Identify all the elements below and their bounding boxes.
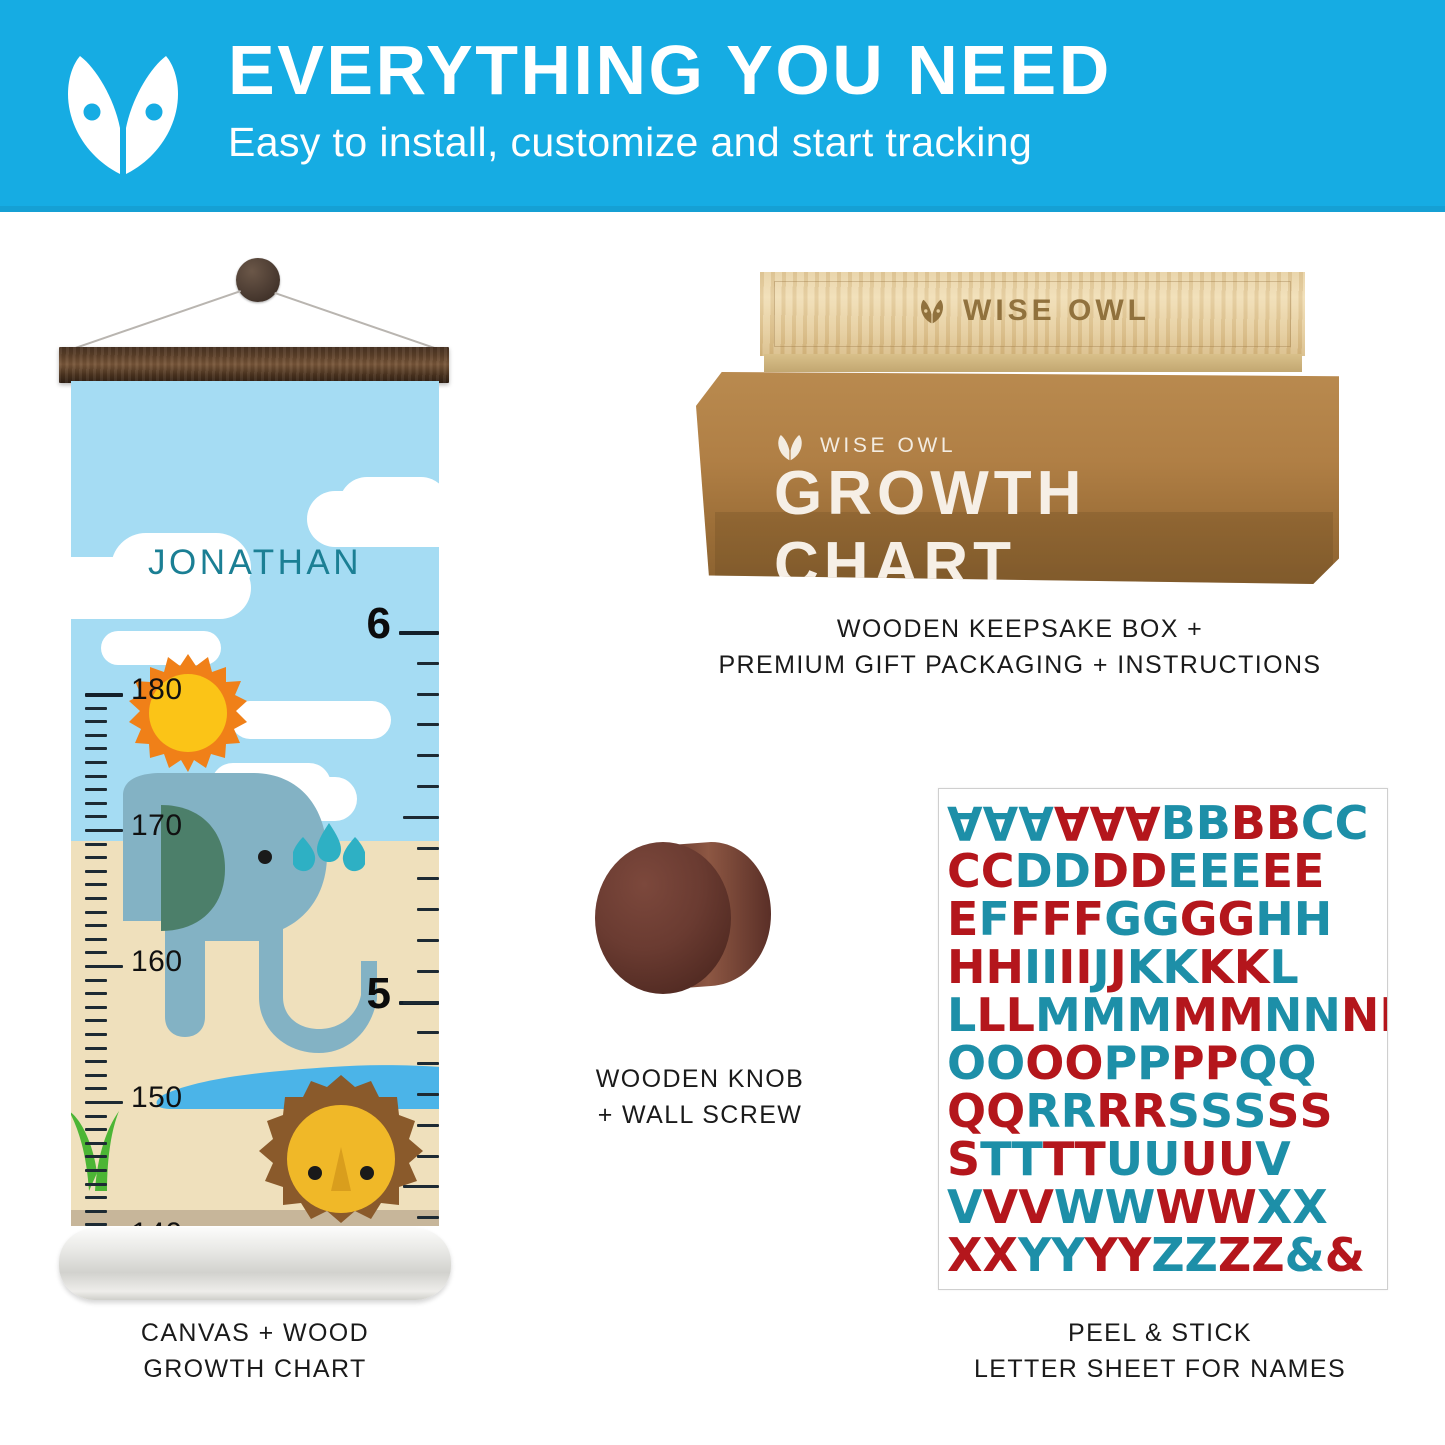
cm-minor-tick [85, 1223, 107, 1226]
letter-sticker[interactable]: S [947, 1136, 980, 1182]
letter-sticker[interactable]: V [1018, 1184, 1054, 1230]
letter-sticker[interactable]: F [1010, 896, 1041, 942]
letter-row: HHIIIIJJKKKKL [947, 943, 1379, 991]
letter-row: AAAAAABBBBCC [947, 799, 1379, 847]
letter-sticker[interactable]: I [1058, 944, 1075, 990]
letter-sticker[interactable]: U [1180, 1136, 1217, 1182]
letter-sticker[interactable]: M [1035, 992, 1081, 1038]
inch-minor-tick [417, 847, 439, 850]
letter-row: STTTTUUUUV [947, 1135, 1379, 1183]
letter-sticker[interactable]: K [1127, 944, 1163, 990]
letter-sticker[interactable]: J [1110, 944, 1127, 990]
letter-sticker[interactable]: U [1218, 1136, 1255, 1182]
cm-minor-tick [85, 1087, 107, 1090]
cm-minor-tick [85, 1169, 107, 1172]
hanging-knob-icon [236, 258, 280, 302]
inch-minor-tick [403, 1001, 439, 1004]
letter-sticker[interactable]: A [1125, 800, 1161, 846]
letter-sticker[interactable]: E [1167, 848, 1198, 894]
cm-label: 180 [131, 673, 183, 707]
chart-canvas: JONATHAN 180 170 160 150 140 130 6 5 [71, 381, 439, 1226]
canvas-roll-bottom [59, 1228, 451, 1300]
letter-row: LLLMMMMMNNNN [947, 991, 1379, 1039]
letter-sticker[interactable]: W [1054, 1184, 1105, 1230]
letter-sticker[interactable]: G [1217, 896, 1255, 942]
cm-minor-tick [85, 747, 107, 750]
caption-line: PEEL & STICK [930, 1316, 1390, 1352]
caption-line: GROWTH CHART [45, 1352, 465, 1388]
letter-sticker[interactable]: Z [1185, 1232, 1218, 1278]
cm-label: 150 [131, 1081, 183, 1115]
letter-sticker[interactable]: S [1200, 1088, 1233, 1134]
letter-sticker[interactable]: A [1089, 800, 1125, 846]
letter-sticker[interactable]: G [1104, 896, 1142, 942]
cm-minor-tick [85, 1210, 107, 1213]
inch-minor-tick [417, 1155, 439, 1158]
inch-minor-tick [417, 970, 439, 973]
growth-chart-caption: CANVAS + WOOD GROWTH CHART [45, 1316, 465, 1387]
letter-row: CCDDDDEEEEE [947, 847, 1379, 895]
cm-minor-tick [85, 720, 107, 723]
letter-sticker[interactable]: T [1074, 1136, 1105, 1182]
letter-sticker[interactable]: Z [1251, 1232, 1284, 1278]
letter-sticker[interactable]: Y [1118, 1232, 1151, 1278]
letter-sticker[interactable]: W [1155, 1184, 1206, 1230]
letter-sticker[interactable]: R [1025, 1088, 1060, 1134]
cloud [231, 701, 391, 739]
letter-sticker[interactable]: V [983, 1184, 1019, 1230]
inch-minor-tick [417, 1093, 439, 1096]
letter-sticker[interactable]: H [1255, 896, 1294, 942]
letter-sticker[interactable]: & [1325, 1232, 1365, 1278]
letter-sticker[interactable]: X [982, 1232, 1017, 1278]
letter-sticker[interactable]: A [947, 800, 983, 846]
cm-minor-tick [85, 938, 107, 941]
cm-minor-tick [85, 1060, 107, 1063]
caption-line: + WALL SCREW [560, 1098, 840, 1134]
letter-sticker[interactable]: U [1143, 1136, 1180, 1182]
letter-sticker[interactable]: L [1269, 944, 1298, 990]
letter-sticker[interactable]: Y [1018, 1232, 1051, 1278]
letter-sticker[interactable]: B [1266, 800, 1301, 846]
letter-sticker[interactable]: S [1233, 1088, 1266, 1134]
inch-minor-tick [417, 1031, 439, 1034]
hanging-string-left [68, 290, 241, 351]
inch-minor-tick [417, 1062, 439, 1065]
letter-sticker[interactable]: C [981, 848, 1015, 894]
inch-minor-tick [417, 1124, 439, 1127]
cm-minor-tick [85, 761, 107, 764]
inch-minor-tick [417, 939, 439, 942]
caption-line: PREMIUM GIFT PACKAGING + INSTRUCTIONS [690, 648, 1350, 684]
inch-minor-tick [417, 723, 439, 726]
banner-title: EVERYTHING YOU NEED [228, 34, 1348, 108]
inch-minor-tick [403, 816, 439, 819]
letter-sticker[interactable]: P [1171, 1040, 1205, 1086]
cm-minor-tick [85, 1047, 107, 1050]
cm-minor-tick [85, 924, 107, 927]
cm-minor-tick [85, 802, 107, 805]
letter-sticker[interactable]: K [1162, 944, 1198, 990]
header-banner: EVERYTHING YOU NEED Easy to install, cus… [0, 0, 1445, 212]
cm-minor-tick [85, 815, 107, 818]
letter-sticker[interactable]: E [947, 896, 978, 942]
letter-sticker[interactable]: L [947, 992, 976, 1038]
wooden-knob-icon [585, 830, 805, 1030]
feet-ruler: 6 5 [371, 381, 439, 1226]
letter-sticker[interactable]: T [1012, 1136, 1043, 1182]
cm-minor-tick [85, 979, 107, 982]
cm-minor-tick [85, 1115, 107, 1118]
carton-brand-text: WISE OWL [820, 434, 956, 458]
wooden-knob-product [585, 830, 805, 1030]
letter-row: OOOOPPPPQQ [947, 1039, 1379, 1087]
inch-minor-tick [417, 662, 439, 665]
letter-sticker[interactable]: O [947, 1040, 986, 1086]
wooden-keepsake-box: WISE OWL [760, 272, 1305, 356]
letter-sticker[interactable]: S [1167, 1088, 1200, 1134]
letter-sticker[interactable]: T [1043, 1136, 1074, 1182]
cm-minor-tick [85, 897, 107, 900]
letter-row: VVVWWWWXX [947, 1183, 1379, 1231]
cardboard-gift-box: WISE OWL GROWTH CHART [696, 372, 1339, 584]
cm-minor-tick [85, 843, 107, 846]
letter-sticker[interactable]: Y [1085, 1232, 1118, 1278]
cm-minor-tick [85, 1033, 107, 1036]
cm-minor-tick [85, 775, 107, 778]
caption-line: CANVAS + WOOD [45, 1316, 465, 1352]
letter-sticker[interactable]: X [1292, 1184, 1327, 1230]
letter-sticker[interactable]: K [1198, 944, 1234, 990]
hanging-string-right [274, 292, 447, 353]
banner-subtitle: Easy to install, customize and start tra… [228, 120, 1348, 165]
cm-minor-tick [85, 1019, 107, 1022]
letter-sticker[interactable]: R [1061, 1088, 1096, 1134]
cm-minor-tick [85, 788, 107, 791]
letter-sticker[interactable]: Z [1218, 1232, 1251, 1278]
letter-sticker-sheet: AAAAAABBBBCCCCDDDDEEEEEEFFFFGGGGHHHHIIII… [938, 788, 1388, 1290]
letter-sticker[interactable]: J [1093, 944, 1110, 990]
letter-sticker[interactable]: L [976, 992, 1005, 1038]
letter-sticker[interactable]: Z [1151, 1232, 1184, 1278]
caption-line: WOODEN KEEPSAKE BOX + [690, 612, 1350, 648]
wise-owl-logo-icon [915, 297, 949, 325]
banner-text-block: EVERYTHING YOU NEED Easy to install, cus… [228, 34, 1348, 165]
letter-sticker[interactable]: E [1262, 848, 1293, 894]
carton-face: WISE OWL GROWTH CHART [696, 372, 1339, 584]
letter-sticker[interactable]: N [1264, 992, 1303, 1038]
letter-sticker[interactable]: D [1129, 848, 1167, 894]
letter-sticker[interactable]: S [1266, 1088, 1299, 1134]
letter-sticker[interactable]: D [1015, 848, 1053, 894]
letter-sticker[interactable]: C [947, 848, 981, 894]
letter-sticker[interactable]: I [1075, 944, 1092, 990]
cm-minor-tick [85, 992, 107, 995]
letter-sticker[interactable]: S [1299, 1088, 1332, 1134]
letter-sticker[interactable]: A [983, 800, 1019, 846]
letter-sticker[interactable]: G [1180, 896, 1218, 942]
letter-sticker[interactable]: N [1379, 992, 1388, 1038]
letter-sticker[interactable]: L [1006, 992, 1035, 1038]
letter-sticker[interactable]: P [1103, 1040, 1137, 1086]
letter-sticker[interactable]: V [947, 1184, 983, 1230]
cm-label: 170 [131, 809, 183, 843]
cm-minor-tick [85, 951, 107, 954]
letter-sticker[interactable]: C [1301, 800, 1335, 846]
letter-sticker[interactable]: M [1218, 992, 1264, 1038]
letter-sticker[interactable]: H [1294, 896, 1333, 942]
letter-sticker[interactable]: H [947, 944, 986, 990]
letter-sticker[interactable]: E [1230, 848, 1261, 894]
letter-sticker[interactable]: F [1073, 896, 1104, 942]
letter-sticker[interactable]: P [1205, 1040, 1239, 1086]
cm-minor-tick [85, 1074, 107, 1077]
inch-minor-tick [417, 908, 439, 911]
caption-line: LETTER SHEET FOR NAMES [930, 1352, 1390, 1388]
letter-sticker[interactable]: A [1018, 800, 1054, 846]
letter-sticker[interactable]: W [1105, 1184, 1156, 1230]
letter-sticker[interactable]: B [1161, 800, 1196, 846]
letter-sticker[interactable]: X [947, 1232, 982, 1278]
banner-bottom-edge [0, 206, 1445, 212]
letter-sticker[interactable]: K [1234, 944, 1270, 990]
letter-sticker[interactable]: R [1096, 1088, 1131, 1134]
letter-sticker[interactable]: O [1064, 1040, 1103, 1086]
cm-minor-tick [85, 883, 107, 886]
wood-box-side [764, 354, 1302, 372]
cm-minor-tick [85, 1006, 107, 1009]
letter-sticker[interactable]: F [1041, 896, 1072, 942]
cm-minor-tick [85, 1128, 107, 1131]
letter-sticker[interactable]: Q [1277, 1040, 1316, 1086]
letter-sticker[interactable]: Y [1051, 1232, 1084, 1278]
letter-sticker[interactable]: D [1091, 848, 1129, 894]
letter-row: QQRRRRSSSSS [947, 1087, 1379, 1135]
letter-sticker[interactable]: F [978, 896, 1009, 942]
letter-sticker[interactable]: M [1127, 992, 1173, 1038]
cm-minor-tick [85, 856, 107, 859]
letter-grid: AAAAAABBBBCCCCDDDDEEEEEEFFFFGGGGHHHHIIII… [947, 799, 1379, 1281]
cm-minor-tick [85, 734, 107, 737]
letter-sheet-caption: PEEL & STICK LETTER SHEET FOR NAMES [930, 1316, 1390, 1387]
letter-sticker[interactable]: O [1025, 1040, 1064, 1086]
cm-minor-tick [85, 1183, 107, 1186]
knob-caption: WOODEN KNOB + WALL SCREW [560, 1062, 840, 1133]
wood-hanger-bar [59, 347, 449, 383]
feet-label: 5 [367, 969, 391, 1019]
water-spray [293, 821, 365, 879]
cm-minor-tick [85, 870, 107, 873]
inch-minor-tick [417, 693, 439, 696]
letter-sticker[interactable]: Q [1238, 1040, 1277, 1086]
letter-sticker[interactable]: Q [986, 1088, 1025, 1134]
cm-minor-tick [85, 911, 107, 914]
letter-sticker[interactable]: I [1041, 944, 1058, 990]
letter-sticker[interactable]: M [1081, 992, 1127, 1038]
cm-minor-tick [85, 1196, 107, 1199]
cm-minor-tick [85, 1155, 107, 1158]
letter-sticker[interactable]: N [1341, 992, 1380, 1038]
packaging-caption: WOODEN KEEPSAKE BOX + PREMIUM GIFT PACKA… [690, 612, 1350, 683]
feet-label: 6 [367, 599, 391, 649]
wise-owl-logo-icon [48, 42, 198, 182]
letter-sticker[interactable]: I [1024, 944, 1041, 990]
cm-ruler: 180 170 160 150 140 130 [85, 381, 155, 1226]
letter-sticker[interactable]: B [1231, 800, 1266, 846]
letter-row: EFFFFGGGGHH [947, 895, 1379, 943]
wood-box-brand-label: WISE OWL [760, 294, 1305, 328]
caption-line: WOODEN KNOB [560, 1062, 840, 1098]
inch-minor-tick [417, 754, 439, 757]
inch-minor-tick [417, 877, 439, 880]
letter-sticker[interactable]: O [986, 1040, 1025, 1086]
letter-sticker[interactable]: H [986, 944, 1025, 990]
inch-minor-tick [417, 1216, 439, 1219]
letter-sticker[interactable]: P [1137, 1040, 1171, 1086]
letter-sticker[interactable]: W [1206, 1184, 1257, 1230]
cm-label: 140 [131, 1217, 183, 1226]
letter-sticker[interactable]: X [1257, 1184, 1292, 1230]
letter-sticker[interactable]: M [1172, 992, 1218, 1038]
cm-minor-tick [85, 707, 107, 710]
letter-sticker[interactable]: E [1293, 848, 1324, 894]
letter-sticker[interactable]: E [1199, 848, 1230, 894]
letter-sticker[interactable]: U [1106, 1136, 1143, 1182]
letter-sticker[interactable]: Q [947, 1088, 986, 1134]
letter-sticker[interactable]: & [1285, 1232, 1325, 1278]
letter-sticker[interactable]: N [1302, 992, 1341, 1038]
letter-sticker[interactable]: B [1196, 800, 1231, 846]
cm-minor-tick [85, 1142, 107, 1145]
letter-sticker[interactable]: T [980, 1136, 1011, 1182]
letter-sticker[interactable]: C [1335, 800, 1369, 846]
letter-sticker[interactable]: D [1053, 848, 1091, 894]
wood-box-brand-text: WISE OWL [963, 294, 1150, 327]
packaging-product: WISE OWL WISE OWL GROWTH CHART [690, 262, 1350, 592]
letter-sticker[interactable]: V [1255, 1136, 1291, 1182]
letter-sticker[interactable]: G [1142, 896, 1180, 942]
inch-minor-tick [403, 1185, 439, 1188]
letter-sticker[interactable]: R [1131, 1088, 1166, 1134]
letter-sticker[interactable]: A [1054, 800, 1090, 846]
letter-row: XXYYYYZZZZ&& [947, 1231, 1379, 1279]
growth-chart-product: JONATHAN 180 170 160 150 140 130 6 5 [45, 250, 465, 1300]
carton-title-text: GROWTH CHART [774, 458, 1339, 600]
inch-minor-tick [417, 785, 439, 788]
cm-label: 160 [131, 945, 183, 979]
